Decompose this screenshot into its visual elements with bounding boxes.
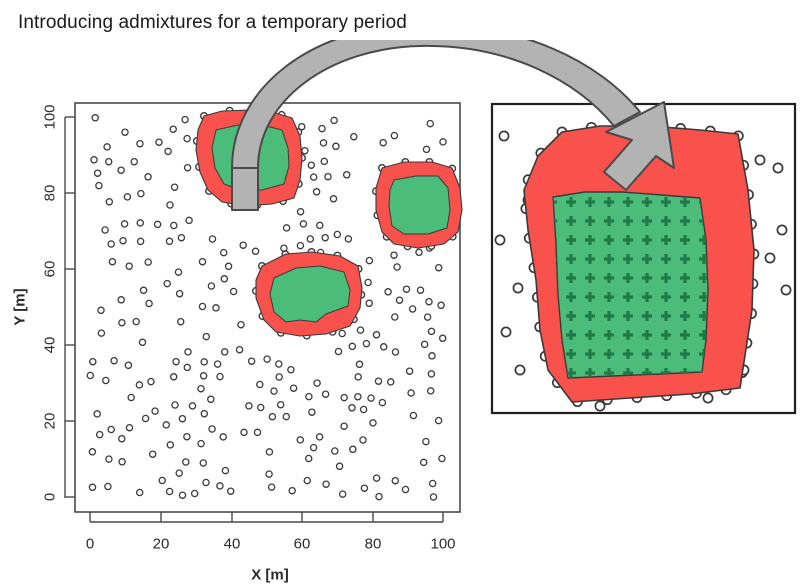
inset-scatter-point [703,393,712,402]
y-axis: 100 80 60 40 20 0 Y [m] [12,104,76,501]
y-tick-label-0: 0 [42,493,59,501]
inset-scatter-point [495,235,504,244]
inset-scatter-point [595,401,604,410]
slide-canvas: Introducing admixtures for a temporary p… [0,0,800,587]
figure-container: 100 80 60 40 20 0 Y [m] 0 20 40 6 [0,40,800,587]
inset-scatter-point [515,365,524,374]
inset-scatter-point [777,225,786,234]
patch-right-core [389,176,450,234]
patch-middle[interactable] [256,252,362,336]
inset-scatter-point [513,283,522,292]
inset-scatter-point [755,155,764,164]
y-tick-label-40: 40 [42,337,59,354]
inset-scatter-point [781,285,790,294]
y-tick-label-80: 80 [42,185,59,202]
inset-scatter-point [765,253,774,262]
inset-scatter-point [773,163,782,172]
x-tick-label-20: 20 [153,535,170,552]
y-tick-label-60: 60 [42,261,59,278]
inset-scatter-point [499,131,508,140]
magnify-arrow-tail-foot [232,168,258,210]
y-tick-label-20: 20 [42,413,59,430]
chart-svg: 100 80 60 40 20 0 Y [m] 0 20 40 6 [0,40,800,587]
y-tick-label-100: 100 [42,104,59,129]
x-tick-label-40: 40 [224,535,241,552]
x-axis-label: X [m] [251,567,289,584]
x-tick-label-80: 80 [365,535,382,552]
y-axis-label: Y [m] [12,288,29,325]
page-title: Introducing admixtures for a temporary p… [18,12,407,34]
x-tick-label-0: 0 [86,535,94,552]
inset-scatter-point [501,327,510,336]
x-axis: 0 20 40 60 80 100 X [m] [86,512,456,584]
x-tick-label-60: 60 [294,535,311,552]
x-tick-label-100: 100 [430,535,455,552]
patch-right[interactable] [376,162,462,248]
